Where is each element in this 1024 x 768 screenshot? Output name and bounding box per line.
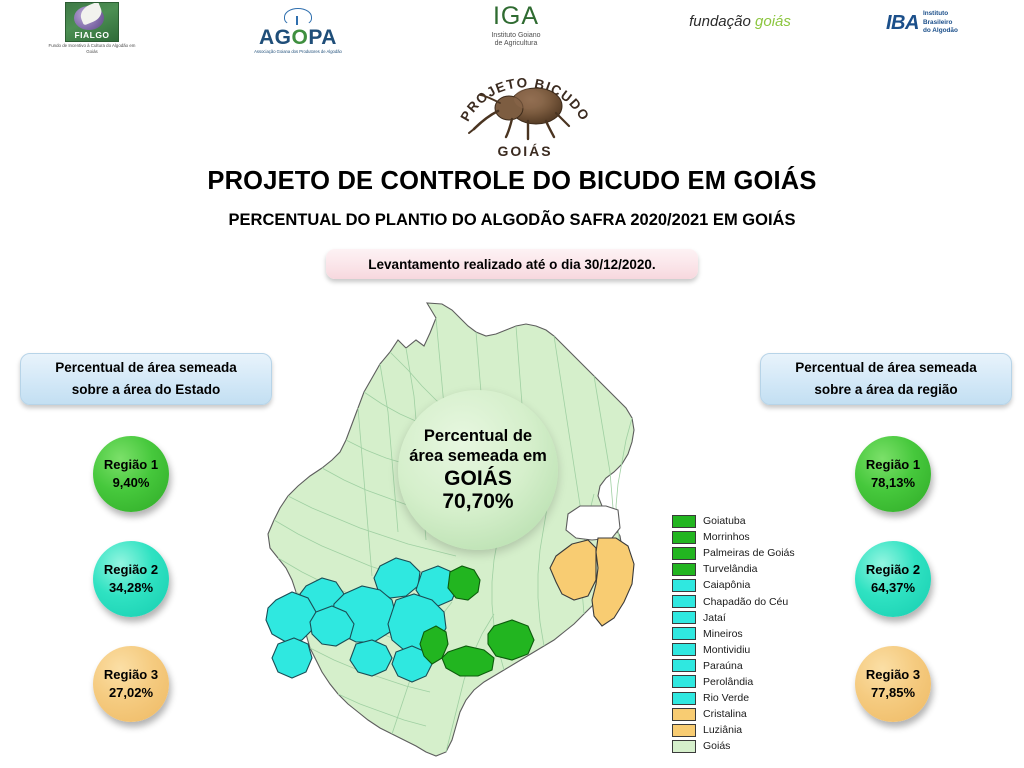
weevil-icon [469,88,569,139]
legend-swatch [672,740,696,753]
left-region-3-value: 27,02% [109,684,153,702]
center-bubble-value: 70,70% [442,490,513,514]
legend-item[interactable]: Mineiros [672,626,822,642]
legend-swatch [672,659,696,672]
left-region-2-value: 34,28% [109,579,153,597]
fialgo-mark: FIALGO [65,2,119,42]
legend-swatch [672,724,696,737]
iga-subtitle-line2: de Agricultura [468,40,564,48]
legend-item[interactable]: Turvelândia [672,561,822,577]
sponsor-logo-strip: FIALGO Fundo de Incentivo à Cultura do A… [0,0,1024,58]
legend-label: Rio Verde [703,692,749,704]
legend-item[interactable]: Luziânia [672,722,822,738]
legend-item[interactable]: Jataí [672,610,822,626]
legend-label: Goiatuba [703,515,746,527]
legend-swatch [672,611,696,624]
weevil-emblem-svg: PROJETO BICUDO GOIÁS [450,63,600,161]
right-region-3-value: 77,85% [871,684,915,702]
legend-label: Palmeiras de Goiás [703,547,795,559]
legend-swatch [672,547,696,560]
logo-agopa: AGOPA Associação Goiana dos Produtores d… [250,8,346,54]
legend-swatch [672,675,696,688]
left-region-3-bubble[interactable]: Região 3 27,02% [93,646,169,722]
logo-iga: IGA Instituto Goiano de Agricultura [468,4,564,49]
right-region-2-value: 64,37% [871,579,915,597]
map-region-cristalina [592,538,634,626]
iga-wordmark: IGA [468,4,564,29]
center-bubble-line1: Percentual de [424,426,532,446]
caption-right-region-area: Percentual de área semeada sobre a área … [760,353,1012,405]
right-region-1-value: 78,13% [871,474,915,492]
legend-item[interactable]: Morrinhos [672,529,822,545]
legend-swatch [672,627,696,640]
legend-label: Jataí [703,612,726,624]
left-region-1-bubble[interactable]: Região 1 9,40% [93,436,169,512]
legend-item[interactable]: Chapadão do Céu [672,593,822,609]
legend-label: Perolândia [703,676,753,688]
legend-label: Mineiros [703,628,743,640]
right-region-3-bubble[interactable]: Região 3 77,85% [855,646,931,722]
agopa-word-o: O [292,26,309,49]
agopa-wordmark: AGOPA [250,27,346,48]
map-legend: GoiatubaMorrinhosPalmeiras de GoiásTurve… [672,513,822,754]
iga-subtitle-line1: Instituto Goiano [468,32,564,40]
center-bubble-state: GOIÁS [444,467,512,491]
legend-label: Caiapônia [703,579,750,591]
state-percentage-bubble: Percentual de área semeada em GOIÁS 70,7… [398,390,558,550]
legend-swatch [672,579,696,592]
right-region-3-label: Região 3 [866,666,920,684]
legend-swatch [672,643,696,656]
legend-item[interactable]: Goiatuba [672,513,822,529]
right-region-2-label: Região 2 [866,561,920,579]
legend-label: Paraúna [703,660,743,672]
logo-fialgo: FIALGO Fundo de Incentivo à Cultura do A… [46,2,138,55]
logo-fundacao-goias: fundação goiás [684,14,796,29]
survey-date-banner: Levantamento realizado até o dia 30/12/2… [326,249,698,279]
left-region-3-label: Região 3 [104,666,158,684]
goias-word: goiás [755,13,791,30]
right-region-1-label: Região 1 [866,456,920,474]
legend-label: Turvelândia [703,563,757,575]
legend-item[interactable]: Caiapônia [672,577,822,593]
legend-swatch [672,595,696,608]
map-enclave-distrito-federal [566,506,620,540]
agopa-subtitle: Associação Goiana dos Produtores de Algo… [250,49,346,54]
legend-swatch [672,692,696,705]
legend-item[interactable]: Paraúna [672,658,822,674]
page-title: PROJETO DE CONTROLE DO BICUDO EM GOIÁS [0,167,1024,196]
iba-wordmark: IBA [886,13,919,33]
center-bubble-line2: área semeada em [409,446,547,466]
legend-item[interactable]: Rio Verde [672,690,822,706]
caption-right-line1: Percentual de área semeada [795,357,977,379]
caption-left-line1: Percentual de área semeada [55,357,237,379]
agopa-word-a: AG [259,26,292,49]
legend-item[interactable]: Perolândia [672,674,822,690]
iba-subtitle-line1: Instituto [923,10,958,19]
fundacao-word: fundação [689,13,751,30]
iba-subtitle-line2: Brasileiro [923,19,958,28]
caption-left-state-area: Percentual de área semeada sobre a área … [20,353,272,405]
legend-label: Luziânia [703,724,742,736]
map-region-goiatuba [488,620,534,660]
legend-swatch [672,531,696,544]
left-region-1-value: 9,40% [113,474,150,492]
legend-label: Chapadão do Céu [703,596,788,608]
left-region-2-label: Região 2 [104,561,158,579]
page-subtitle: PERCENTUAL DO PLANTIO DO ALGODÃO SAFRA 2… [0,211,1024,230]
svg-text:GOIÁS: GOIÁS [497,143,552,159]
legend-label: Goiás [703,740,730,752]
projeto-bicudo-emblem: PROJETO BICUDO GOIÁS [450,63,600,161]
right-region-1-bubble[interactable]: Região 1 78,13% [855,436,931,512]
legend-swatch [672,515,696,528]
legend-item[interactable]: Cristalina [672,706,822,722]
legend-label: Cristalina [703,708,747,720]
right-region-2-bubble[interactable]: Região 2 64,37% [855,541,931,617]
iba-subtitle-line3: do Algodão [923,27,958,36]
fialgo-wordmark: FIALGO [66,30,118,40]
legend-item[interactable]: Montividiu [672,642,822,658]
legend-swatch [672,708,696,721]
legend-label: Morrinhos [703,531,750,543]
legend-item[interactable]: Goiás [672,738,822,754]
map-region-chapadao-do-ceu [272,638,312,678]
legend-swatch [672,563,696,576]
left-region-2-bubble[interactable]: Região 2 34,28% [93,541,169,617]
caption-right-line2: sobre a área da região [814,379,957,401]
logo-iba: IBA Instituto Brasileiro do Algodão [886,10,1010,36]
agopa-word-pa: PA [308,26,337,49]
fialgo-subtitle: Fundo de Incentivo à Cultura do Algodão … [46,43,138,55]
agopa-tree-icon [284,8,312,26]
left-region-1-label: Região 1 [104,456,158,474]
caption-left-line2: sobre a área do Estado [72,379,221,401]
legend-item[interactable]: Palmeiras de Goiás [672,545,822,561]
legend-label: Montividiu [703,644,750,656]
